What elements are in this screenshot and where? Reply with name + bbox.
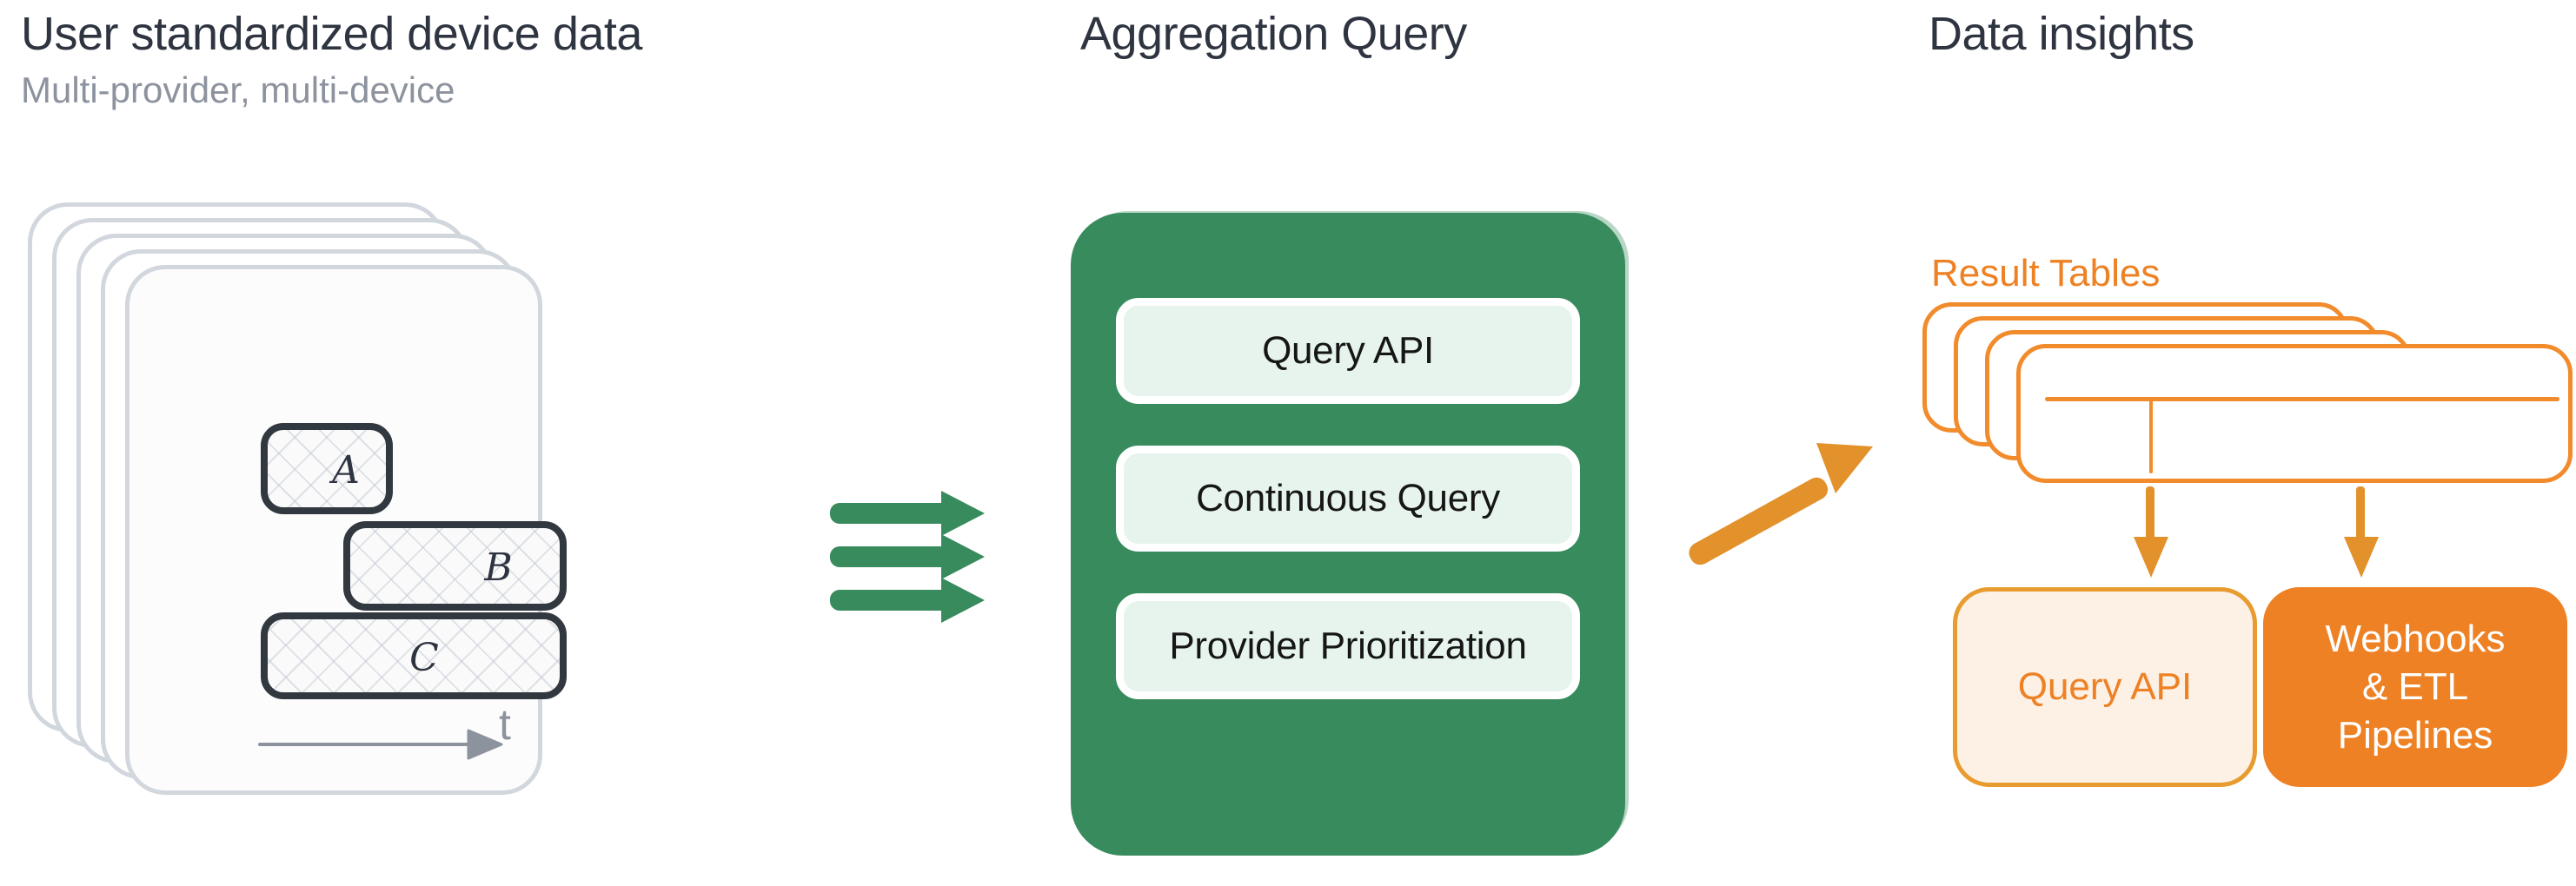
feature-provider-prioritization[interactable]: Provider Prioritization — [1116, 593, 1580, 699]
device-bar-c: C — [261, 612, 567, 699]
device-bar-a: A — [261, 423, 393, 514]
down-arrow-icon-webhooks — [2335, 486, 2387, 582]
result-table-card-front — [2016, 344, 2573, 483]
output-webhooks-etl-pipelines[interactable]: Webhooks & ETL Pipelines — [2263, 587, 2567, 787]
aggregation-query-panel: Query API Continuous Query Provider Prio… — [1071, 213, 1625, 856]
device-bar-a-label: A — [332, 448, 360, 493]
table-header-rule — [2045, 397, 2559, 401]
device-data-card-stack: A B C t — [17, 195, 808, 882]
left-column-heading: User standardized device data — [21, 7, 642, 61]
data-insights-panel: Result Tables Query API Webhooks & ETL P… — [1903, 252, 2576, 886]
result-tables-label: Result Tables — [1931, 252, 2160, 295]
device-bar-b: B — [343, 521, 567, 611]
table-column-divider — [2149, 400, 2153, 473]
device-data-card-front: A B C t — [125, 265, 542, 795]
output-query-api[interactable]: Query API — [1953, 587, 2257, 787]
middle-column-heading: Aggregation Query — [1080, 7, 1467, 61]
time-axis-arrow-icon — [258, 725, 510, 760]
device-bar-b-label: B — [484, 545, 512, 590]
down-arrow-icon-query-api — [2125, 486, 2177, 582]
left-column-subheading: Multi-provider, multi-device — [21, 69, 455, 111]
feature-query-api[interactable]: Query API — [1116, 298, 1580, 404]
right-column-heading: Data insights — [1929, 7, 2194, 61]
feature-continuous-query[interactable]: Continuous Query — [1116, 446, 1580, 552]
diagonal-up-right-arrow-icon — [1686, 415, 1938, 580]
time-axis-label: t — [499, 699, 511, 750]
triple-right-arrow-icon — [830, 491, 1047, 625]
device-bar-c-label: C — [409, 636, 439, 680]
diagram-canvas: User standardized device data Multi-prov… — [0, 0, 2576, 886]
